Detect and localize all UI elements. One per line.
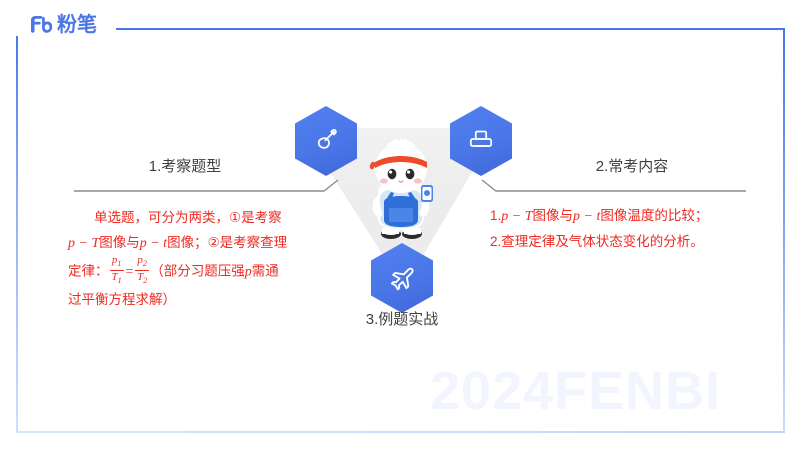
right-line-2: 2.查理定律及气体状态变化的分析。 [490,229,790,254]
left-line-2-expr-c: p − t [140,236,167,251]
paintbrush-icon [313,128,339,154]
right-line-1: 1.p − T图像与p − t图像温度的比较； [490,203,790,229]
right-item-1-text-c: 图像与 [533,208,574,223]
left-line-3: 定律：p1T1=p2T2（部分习题压强p需通 [68,256,353,287]
section-right-heading: 2.常考内容 [478,157,746,177]
left-line-3-text-c: 需通 [252,263,279,278]
printer-icon [468,128,494,154]
section-left-header: 1.考察题型 [74,157,342,194]
right-item-1-expr-b: p − T [501,209,532,224]
fraction-p1-t1: p1T1 [110,255,124,286]
left-line-1: 单选题，可分为两类，①是考察 [68,205,353,230]
airplane-icon [388,264,416,292]
frame-border-left [16,36,18,433]
fraction-p2-t2: p2T2 [135,255,149,286]
left-line-3-var-p: p [245,264,252,279]
watermark-text: 2024FENBI [430,360,721,422]
right-item-1-expr-d: p − t [573,209,600,224]
left-line-3-text-b: （部分习题压强 [150,263,245,278]
equals-sign: = [125,264,134,279]
frame-border-bottom [16,431,785,433]
left-line-3-text-a: 定律： [68,263,109,278]
left-line-2-expr-a: p − T [68,236,99,251]
section-bottom-heading: 3.例题实战 [322,308,482,329]
section-right-rule [478,178,746,194]
section-right-body: 1.p − T图像与p − t图像温度的比较； 2.查理定律及气体状态变化的分析… [490,203,790,254]
section-left-body: 单选题，可分为两类，①是考察 p − T图像与p − t图像；②是考察查理 定律… [68,205,353,312]
left-line-4: 过平衡方程求解） [68,287,353,312]
fb-logo-icon [29,13,53,37]
left-line-2-text-d: 图像；②是考察查理 [167,235,287,250]
section-right-header: 2.常考内容 [478,157,746,194]
fenbi-mascot-icon [358,136,444,246]
frame-border-top [116,28,785,30]
brand-logo-text: 粉笔 [57,15,97,35]
left-line-2: p − T图像与p − t图像；②是考察查理 [68,230,353,256]
brand-logo: 粉笔 [29,11,103,39]
right-item-1-index: 1. [490,208,501,223]
slide-canvas: 2024FENBI 粉笔 [0,0,800,450]
right-item-1-text-e: 图像温度的比较； [600,208,708,223]
left-line-2-text-b: 图像与 [99,235,140,250]
section-left-rule [74,178,342,194]
